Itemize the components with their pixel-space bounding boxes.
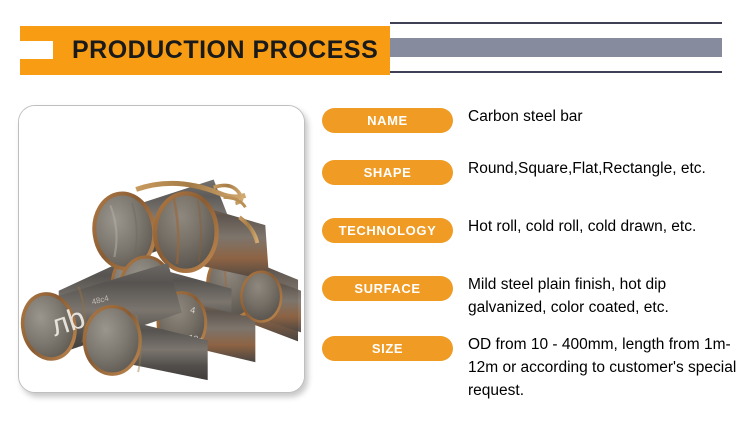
spec-label-size: SIZE — [322, 336, 453, 361]
spec-label-shape: SHAPE — [322, 160, 453, 185]
page-title: PRODUCTION PROCESS — [72, 26, 378, 75]
header-grey-bar — [390, 38, 722, 57]
spec-value-surface: Mild steel plain finish, hot dip galvani… — [468, 273, 742, 319]
banner-notch — [20, 41, 53, 59]
spec-value-name: Carbon steel bar — [468, 105, 742, 128]
spec-label-technology: TECHNOLOGY — [322, 218, 453, 243]
page-header: PRODUCTION PROCESS — [0, 0, 750, 96]
spec-label-surface: SURFACE — [322, 276, 453, 301]
spec-value-size: OD from 10 - 400mm, length from 1m-12m o… — [468, 333, 742, 402]
steel-bars-photo: 4 18n ᴫb 48c4 — [19, 106, 304, 392]
product-image-card: 4 18n ᴫb 48c4 — [18, 105, 305, 393]
header-rule-top — [390, 22, 722, 24]
header-rule-bottom — [390, 71, 722, 73]
spec-value-technology: Hot roll, cold roll, cold drawn, etc. — [468, 215, 742, 238]
spec-value-shape: Round,Square,Flat,Rectangle, etc. — [468, 157, 742, 180]
spec-label-name: NAME — [322, 108, 453, 133]
